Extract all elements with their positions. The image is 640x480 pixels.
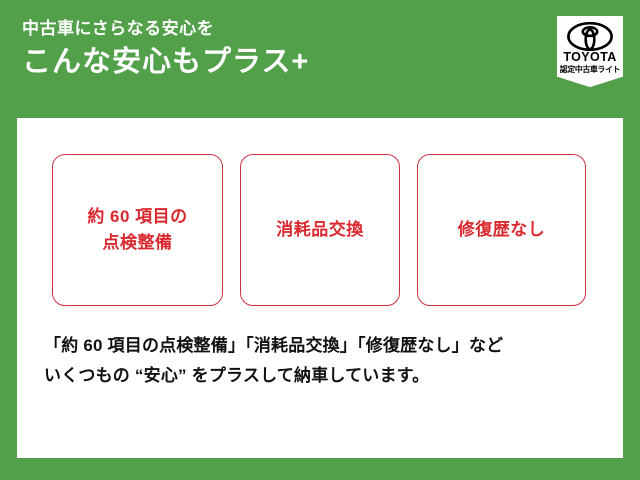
feature-box-no-accident-history: 修復歴なし bbox=[417, 154, 586, 306]
toyota-certified-badge: TOYOTA 認定中古車ライト bbox=[557, 16, 623, 94]
toyota-emblem-icon bbox=[557, 21, 623, 51]
caption-line-2: いくつもの “安心” をプラスして納車しています。 bbox=[44, 361, 614, 391]
toyota-wordmark: TOYOTA bbox=[557, 51, 623, 64]
content-panel: 約 60 項目の 点検整備 消耗品交換 修復歴なし 「約 60 項目の点検整備」… bbox=[17, 118, 623, 458]
promo-banner: 中古車にさらなる安心を こんな安心もプラス+ TOYOTA 認定中古車ライト 約… bbox=[0, 0, 640, 480]
feature-label: 消耗品交換 bbox=[276, 217, 364, 243]
caption-block: 「約 60 項目の点検整備」「消耗品交換」「修復歴なし」など いくつもの “安心… bbox=[44, 331, 614, 391]
feature-label: 約 60 項目の 点検整備 bbox=[87, 204, 187, 256]
badge-chevron-notch bbox=[557, 77, 623, 94]
feature-box-consumables: 消耗品交換 bbox=[240, 154, 400, 306]
header-text-block: 中古車にさらなる安心を こんな安心もプラス+ bbox=[22, 18, 542, 82]
feature-box-inspection: 約 60 項目の 点検整備 bbox=[52, 154, 223, 306]
toyota-badge-tagline: 認定中古車ライト bbox=[558, 65, 623, 75]
header-subtitle: 中古車にさらなる安心を bbox=[22, 18, 542, 40]
feature-box-row: 約 60 項目の 点検整備 消耗品交換 修復歴なし bbox=[52, 154, 586, 306]
feature-label: 修復歴なし bbox=[458, 217, 546, 243]
header-title: こんな安心もプラス+ bbox=[22, 42, 542, 82]
banner-header: 中古車にさらなる安心を こんな安心もプラス+ TOYOTA 認定中古車ライト bbox=[0, 0, 640, 118]
banner-footer-strip bbox=[0, 458, 640, 480]
caption-line-1: 「約 60 項目の点検整備」「消耗品交換」「修復歴なし」など bbox=[44, 331, 614, 361]
